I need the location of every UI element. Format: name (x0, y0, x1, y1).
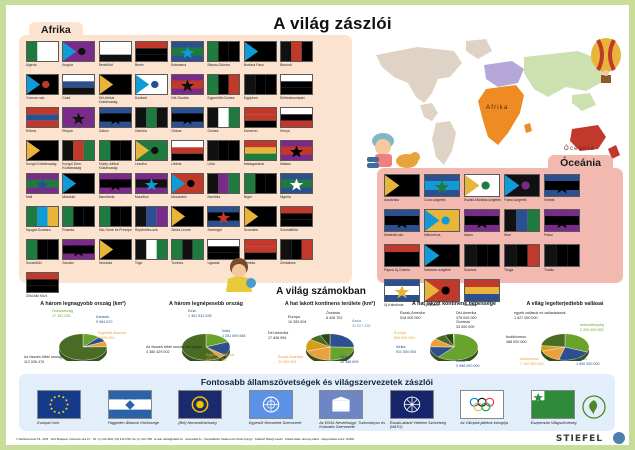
organisation-label: Az ENSz Nevelésügyi, Tudományos és Kultu… (319, 421, 385, 430)
chart-slice-label: Az összes többi ország112 026 470 (24, 355, 62, 364)
flag-cell[interactable]: Niue (503, 209, 543, 242)
chart-slice-name: Oroszország (52, 309, 73, 313)
flag-chad (62, 74, 95, 95)
chart-slice-value: 4 380 429 002 (146, 350, 202, 355)
flag-new-caledonia (384, 279, 420, 302)
flag-label: Kongói Köztársaság (26, 162, 60, 171)
flag-fiji (504, 174, 540, 197)
chart-slice-value: 518 000 000 (400, 316, 425, 321)
flag-cell[interactable]: Salamon-szigetek (423, 244, 463, 277)
flag-nauru (464, 209, 500, 232)
flag-cell[interactable]: Szváziföld (25, 239, 61, 270)
chart-slice-value: 3 998 000 000 (456, 364, 480, 369)
flag-mauritius (135, 173, 168, 194)
flag-burundi (280, 41, 313, 62)
flag-cell[interactable]: Benin (134, 41, 170, 72)
flag-cell[interactable]: São Tomé és Príncipe (98, 206, 134, 237)
chart-slice-label: buddhizmus488 000 000 (506, 335, 527, 344)
flag-label: Cook-szigetek (424, 198, 462, 207)
flag-cell[interactable]: Marshall-szk. (383, 209, 423, 242)
flag-label: Mali (26, 195, 60, 204)
flag-cell[interactable]: Togo (134, 239, 170, 270)
flag-cell[interactable]: Comore-szk. (25, 74, 61, 105)
flag-cell[interactable]: Burundi (279, 41, 315, 72)
chart-slice-name: Az összes többi ország lakossága (146, 345, 202, 349)
numbers-section-title: A világ számokban (261, 286, 381, 297)
poster-frame: A világ zászlói Afrika AlgériaAngolaBeni… (0, 0, 635, 450)
flag-cell[interactable]: Tuvalu (543, 244, 583, 277)
pie-chart-3: A hat lakott kontinens területe (km²) Áz… (268, 301, 392, 371)
flag-cell[interactable]: Namíbia (206, 173, 242, 204)
chart-slice-value: 2 200 000 000 (580, 328, 604, 333)
flag-vanuatu (464, 279, 500, 302)
flag-cell[interactable]: Szomália (243, 206, 279, 237)
flag-cell[interactable]: Kamerun (243, 107, 279, 138)
flag-marshall-islands (384, 209, 420, 232)
flag-cell[interactable]: Nyugat-Szahara (25, 206, 61, 237)
flag-label: Fidzsi-szigetek (504, 198, 542, 207)
flag-burkina-faso (244, 41, 277, 62)
chart-canvas: Oroszország17 101 230Kanada9 984 670Egye… (24, 309, 142, 371)
chart-slice-value: 1 100 000 000 (520, 362, 544, 367)
chart-slice-value: 17 846 954 (268, 336, 288, 341)
chart-title: A három legnépesebb ország (146, 301, 266, 307)
chart-slice-label: Egyesült Államok9 826 630 (98, 331, 126, 340)
flag-cell[interactable]: Niger (243, 173, 279, 204)
flag-label: Lesotho (135, 162, 169, 171)
flag-tuvalu (544, 244, 580, 267)
chart-slice-value: 8 428 702 (326, 316, 342, 321)
flag-label: Libéria (171, 162, 205, 171)
flag-label: Szváziföld (26, 261, 60, 270)
flag-label: Ausztrália (384, 198, 422, 207)
chart-slice-name: India (222, 329, 230, 333)
flag-liberia (171, 140, 204, 161)
flag-tonga (504, 244, 540, 267)
organisations-row: Európai UnióFüggetlen Államok Közössége(… (19, 387, 615, 430)
flag-label: Dzsibuti (135, 96, 169, 105)
flag-cell[interactable]: Kenya (279, 107, 315, 138)
flag-kenya (280, 107, 313, 128)
flag-cell[interactable]: Gabon (98, 107, 134, 138)
flag-cell[interactable]: Fidzsi-szigetek (503, 174, 543, 207)
flag-cell[interactable]: Tunézia (170, 239, 206, 270)
chart-slice-name: Az összes többi ország (24, 355, 62, 359)
continent-panel-africa: Afrika AlgériaAngolaBeninföldBeninBotswa… (19, 35, 352, 283)
flag-label: Tanzánia (99, 261, 133, 270)
flag-cell[interactable]: Zöld-foki Közt. (25, 272, 61, 303)
flag-cell[interactable]: Beninföld (98, 41, 134, 72)
flag-australia (384, 174, 420, 197)
flag-label: Nyugat-Szahara (26, 228, 60, 237)
flag-new-zealand (424, 279, 460, 302)
flag-swaziland (26, 239, 59, 260)
flag-cell[interactable]: Tonga (503, 244, 543, 277)
flag-label: Szudán (62, 261, 96, 270)
pie-chart-1: A három legnagyobb ország (km²) Oroszors… (24, 301, 142, 371)
chart-slice-name: Kanada (96, 315, 109, 319)
organisations-title: Fontosabb államszövetségek és világszerv… (19, 374, 615, 387)
flag-central-african-republic (99, 140, 132, 161)
flag-cell[interactable]: Mauritánia (98, 173, 134, 204)
flag-cell[interactable]: Ausztrália (383, 174, 423, 207)
chart-slice-name: Európa (394, 331, 406, 335)
flag-cell[interactable]: Tanzánia (98, 239, 134, 270)
flag-label: Tunézia (171, 261, 205, 270)
flag-label: Szamoa (464, 268, 502, 277)
chart-slice-value: 17 101 230 (52, 314, 73, 319)
flag-cell[interactable]: Malawi (279, 140, 315, 171)
flag-label: Malawi (280, 162, 314, 171)
flag-label: Madagaszkár (244, 162, 278, 171)
flag-cell[interactable]: Algéria (25, 41, 61, 72)
flag-comoros (26, 74, 59, 95)
flag-label: Sierra Leone (171, 228, 205, 237)
flag-ghana (171, 107, 204, 128)
flag-cell[interactable]: Szomáliföld (279, 206, 315, 237)
flag-cell[interactable]: Madagaszkár (243, 140, 279, 171)
flag-label: Mauritánia (99, 195, 133, 204)
chart-slice-value: 33 000 000 (456, 325, 474, 330)
chart-slice-name: iszlám (576, 357, 586, 361)
organisation-label: Eszperantó Világszövetség (531, 421, 597, 426)
organisation-item[interactable]: Egyesült Nemzetek Szervezete (249, 390, 315, 430)
flag-cell[interactable]: Marokkó (61, 173, 97, 204)
flag-cell[interactable]: Angola (61, 41, 97, 72)
pie-chart-5: A világ legelterjedtebb vallásai kereszt… (506, 301, 624, 371)
chart-canvas: kereszténység2 200 000 000iszlám1 600 00… (506, 309, 624, 371)
chart-slice-label: Óceánia33 000 000 (456, 320, 474, 329)
flag-label: Nigéria (280, 195, 314, 204)
flag-label: Kamerun (244, 129, 278, 138)
map-label-africa: Afrika (486, 105, 509, 111)
chart-title: A hat lakott kontinens területe (km²) (268, 301, 392, 307)
flag-label: Bissau-Guinea (207, 63, 241, 72)
flag-label: Burundi (280, 63, 314, 72)
flag-samoa (464, 244, 500, 267)
world-map: Afrika Óceánia (358, 33, 628, 173)
flag-gambia (135, 107, 168, 128)
flag-congo (26, 140, 59, 161)
brand-dot-icon (613, 432, 625, 444)
chart-slice-value: 1 600 000 000 (576, 362, 600, 367)
chart-slice-name: kereszténység (580, 323, 604, 327)
flag-south-sudan (171, 74, 204, 95)
flag-cell[interactable]: Gambia (134, 107, 170, 138)
flag-label: Közép-Afrikai Köztársaság (99, 162, 133, 171)
chart-slice-value: 30 368 609 (340, 360, 358, 365)
flag-cell[interactable]: Seychelles-szk. (134, 206, 170, 237)
chart-slice-name: Dél-Amerika (268, 331, 288, 335)
flag-label: Eritrea (26, 129, 60, 138)
flag-tanzania (99, 239, 132, 260)
flag-cell[interactable]: Ruanda (61, 206, 97, 237)
flag-label: Pápua Új-Guinea (384, 268, 422, 277)
flag-label: Mozambik (171, 195, 205, 204)
chart-slice-label: Afrika911 000 000 (396, 345, 416, 354)
flag-ethiopia (62, 107, 95, 128)
chart-slice-label: iszlám1 600 000 000 (576, 357, 600, 366)
flag-papua-new-guinea (384, 244, 420, 267)
flag-label: Líbia (207, 162, 241, 171)
flag-guinea (207, 107, 240, 128)
flag-cape-verde (26, 272, 59, 293)
chart-slice-name: buddhizmus (506, 335, 526, 339)
flag-djibouti (135, 74, 168, 95)
chart-slice-label: India1 251 695 584 (222, 329, 246, 338)
flag-guinea-bissau (207, 41, 240, 62)
flag-cell[interactable]: Egyenlítői-Guinea (206, 74, 242, 105)
flag-cell[interactable]: Libéria (170, 140, 206, 171)
flag-cell[interactable]: Szudán (61, 239, 97, 270)
flag-cameroon (244, 107, 277, 128)
flag-gabon (99, 107, 132, 128)
flag-nigeria (280, 173, 313, 194)
flag-cell[interactable]: Kongói Köztársaság (25, 140, 61, 171)
organisation-label: (Brit) Nemzetközösség (178, 421, 244, 426)
flag-senegal (207, 206, 240, 227)
flag-cell[interactable]: Pápua Új-Guinea (383, 244, 423, 277)
chart-slice-name: Óceánia (326, 311, 340, 315)
flag-benin (135, 41, 168, 62)
chart-slice-name: Ázsia (456, 359, 465, 363)
flag-cell[interactable]: Mali (25, 173, 61, 204)
flag-cell[interactable]: Lesotho (134, 140, 170, 171)
flag-label: Angola (62, 63, 96, 72)
chart-slice-label: Észak-Amerika24 506 524 (278, 355, 303, 364)
flag-cell[interactable]: Kiribati (543, 174, 583, 207)
flag-cell[interactable]: Szamoa (463, 244, 503, 277)
flag-cell[interactable]: Mozambik (170, 173, 206, 204)
flag-label: Niue (504, 233, 542, 242)
organisation-item[interactable]: Az Olimpiai játékok lobogója (460, 390, 526, 430)
organisation-label: Egyesült Nemzetek Szervezete (249, 421, 315, 426)
flag-label: Burkina Faso (244, 63, 278, 72)
flag-label: Togo (135, 261, 169, 270)
flag-label: Egyenlítői-Guinea (207, 96, 241, 105)
flag-cell[interactable]: Elefántcsontpart (279, 74, 315, 105)
flag-madagascar (244, 140, 277, 161)
flag-label: Namíbia (207, 195, 241, 204)
flag-label: Marokkó (62, 195, 96, 204)
chart-slice-value: 1 251 695 584 (222, 334, 246, 339)
flag-algeria (26, 41, 59, 62)
flag-label: Gambia (135, 129, 169, 138)
pie-chart-4: A hat lakott kontinens népessége Ázsia3 … (394, 301, 514, 371)
flag-label: Szomáliföld (280, 228, 314, 237)
flag-cell[interactable]: Nauru (463, 209, 503, 242)
flag-european-union (37, 390, 81, 419)
flag-niger (244, 173, 277, 194)
flag-unesco (319, 390, 363, 419)
organisation-label: Az Olimpiai játékok lobogója (460, 421, 526, 426)
flag-malawi (280, 140, 313, 161)
flag-seychelles (135, 206, 168, 227)
flag-label: Guinea (207, 129, 241, 138)
chart-slice-label: Európa10 395 504 (288, 315, 306, 324)
organisation-item[interactable]: (Brit) Nemzetközösség (178, 390, 244, 430)
eco-certification-badge-icon (581, 394, 607, 420)
organisation-label: Északi-atlanti Védelmi Szövetség (NATO) (390, 421, 456, 430)
flag-ivory-coast (280, 74, 313, 95)
chart-slice-value: 112 026 470 (24, 360, 62, 365)
chart-slice-label: Óceánia8 428 702 (326, 311, 342, 320)
flag-dr-congo (62, 140, 95, 161)
flag-label: Mauritius (135, 195, 169, 204)
flag-label: Dél-Afrikai Köztársaság (99, 96, 133, 105)
flag-cell[interactable]: Északi-Mariana-szigetek (463, 174, 503, 207)
flag-cell[interactable]: Líbia (206, 140, 242, 171)
chart-slice-label: Európa690 000 000 (394, 331, 415, 340)
flag-cell[interactable]: Mauritius (134, 173, 170, 204)
flag-egypt (244, 74, 277, 95)
organisation-item[interactable]: Európai Unió (37, 390, 103, 430)
chart-slice-name: Kína (188, 309, 196, 313)
flag-label: Szomália (244, 228, 278, 237)
flag-sierra-leone (171, 206, 204, 227)
flag-rwanda (62, 206, 95, 227)
chart-slice-value: 690 000 000 (394, 336, 415, 341)
flag-cook-islands (424, 174, 460, 197)
flag-label: Egyiptom (244, 96, 278, 105)
flag-label: Niger (244, 195, 278, 204)
chart-slice-value: 911 000 000 (396, 350, 416, 355)
flag-mauritania (99, 173, 132, 194)
flag-cell[interactable]: Mikronézia (423, 209, 463, 242)
chart-slice-label: Ázsia3 998 000 000 (456, 359, 480, 368)
chart-slice-label: Észak-Amerika518 000 000 (400, 311, 425, 320)
flag-sudan (62, 239, 95, 260)
chart-slice-name: Dél-Amerika (456, 311, 476, 315)
chart-slice-name: Egyesült Államok (98, 331, 126, 335)
map-label-oceania: Óceánia (564, 146, 595, 152)
chart-slice-label: Dél-Amerika376 000 000 (456, 311, 477, 320)
chart-slice-name: Egyesült Államok (206, 353, 234, 357)
flag-label: Kongói Dem. Köztársaság (62, 162, 96, 171)
flag-label: Elefántcsontpart (280, 96, 314, 105)
flag-cell[interactable]: Cook-szigetek (423, 174, 463, 207)
flag-somalia (244, 206, 277, 227)
flag-commonwealth (178, 390, 222, 419)
chart-slice-name: Ázsia (352, 319, 361, 323)
organisations-panel: Fontosabb államszövetségek és világszerv… (19, 374, 615, 431)
flag-cell[interactable]: Szenegál (206, 206, 242, 237)
flag-western-sahara (26, 206, 59, 227)
child-globe-illustration-icon (218, 257, 260, 293)
chart-slice-value: 10 395 504 (288, 320, 306, 325)
chart-slice-name: Európa (288, 315, 300, 319)
flag-cell[interactable]: Palau (543, 209, 583, 242)
flag-cell[interactable]: Ghána (170, 107, 206, 138)
chart-title: A hat lakott kontinens népessége (394, 301, 514, 307)
flag-cell[interactable]: Dél-Szudán (170, 74, 206, 105)
flag-morocco (62, 173, 95, 194)
flag-label: Palau (544, 233, 582, 242)
chart-slice-label: Ázsia31 027 230 (352, 319, 370, 328)
flag-cell[interactable]: Csád (61, 74, 97, 105)
flag-northern-mariana (464, 174, 500, 197)
flag-label: Salamon-szigetek (424, 268, 462, 277)
flag-mali (26, 173, 59, 194)
flag-cell[interactable]: Dél-Afrikai Köztársaság (98, 74, 134, 105)
flag-cell[interactable]: Bissau-Guinea (206, 41, 242, 72)
flag-cell[interactable]: Egyiptom (243, 74, 279, 105)
chart-slice-value: 9 984 670 (96, 320, 112, 325)
poster-sheet: A világ zászlói Afrika AlgériaAngolaBeni… (6, 5, 629, 445)
flag-label: Seychelles-szk. (135, 228, 169, 237)
flag-label: Kiribati (544, 198, 582, 207)
flag-tunisia (171, 239, 204, 260)
flag-label: Etiópia (62, 129, 96, 138)
chart-title: A három legnagyobb ország (km²) (24, 301, 142, 307)
flag-united-nations (249, 390, 293, 419)
flag-label: Tuvalu (544, 268, 582, 277)
organisation-label: Független Államok Közössége (108, 421, 174, 426)
flag-benin-land (99, 41, 132, 62)
chart-slice-label: Dél-Amerika17 846 954 (268, 331, 288, 340)
flag-label: Beninföld (99, 63, 133, 72)
chart-slice-label: Kína1 361 512 535 (188, 309, 212, 318)
flag-angola (62, 41, 95, 62)
child-illustration-icon (363, 127, 421, 171)
flag-lesotho (135, 140, 168, 161)
flag-cell[interactable]: Közép-Afrikai Köztársaság (98, 140, 134, 171)
flag-cell[interactable]: Nigéria (279, 173, 315, 204)
flag-cell[interactable]: Kongói Dem. Köztársaság (61, 140, 97, 171)
flag-niue (504, 209, 540, 232)
flag-cell[interactable]: Sierra Leone (170, 206, 206, 237)
flag-olympic (460, 390, 504, 419)
flag-palau (544, 209, 580, 232)
flag-label: Algéria (26, 63, 60, 72)
pie-chart-2: A három legnépesebb ország Kína1 361 512… (146, 301, 266, 371)
flag-label: Marshall-szk. (384, 233, 422, 242)
organisation-label: Európai Unió (37, 421, 103, 426)
chart-slice-label: Oroszország17 101 230 (52, 309, 73, 318)
chart-slice-value: 1 361 512 535 (188, 314, 212, 319)
flag-cell[interactable]: Dzsibuti (134, 74, 170, 105)
flag-label: Ghána (171, 129, 205, 138)
organisation-item[interactable]: Független Államok Közössége (108, 390, 174, 430)
organisation-item[interactable]: Északi-atlanti Védelmi Szövetség (NATO) (390, 390, 456, 430)
flag-label: Mikronézia (424, 233, 462, 242)
continent-tab-oceania: Óceánia (548, 155, 613, 170)
flag-cell[interactable]: Botswana (170, 41, 206, 72)
flag-cell[interactable]: Etiópia (61, 107, 97, 138)
organisation-item[interactable]: Az ENSz Nevelésügyi, Tudományos és Kultu… (319, 390, 385, 430)
chart-slice-label: Kanada9 984 670 (96, 315, 112, 324)
chart-canvas: Ázsia31 027 230Afrika30 368 609Észak-Ame… (268, 309, 392, 371)
chart-slice-value: 488 000 000 (506, 340, 527, 345)
flag-zimbabwe (280, 239, 313, 260)
flag-label: Szenegál (207, 228, 241, 237)
flag-grid-africa: AlgériaAngolaBeninföldBeninBotswanaBissa… (19, 35, 352, 309)
flag-label: Gabon (99, 129, 133, 138)
chart-slice-label: hinduizmus1 100 000 000 (520, 357, 544, 366)
flag-cell[interactable]: Guinea (206, 107, 242, 138)
flag-label: Dél-Szudán (171, 96, 205, 105)
continent-panel-oceania: Óceánia AusztráliaCook-szigetekÉszaki-Ma… (377, 168, 623, 283)
flag-togo (135, 239, 168, 260)
flag-botswana (171, 41, 204, 62)
flag-equatorial-guinea (207, 74, 240, 95)
chart-slice-value: 31 027 230 (352, 324, 370, 329)
flag-south-africa (99, 74, 132, 95)
flag-cell[interactable]: Eritrea (25, 107, 61, 138)
flag-cell[interactable]: Burkina Faso (243, 41, 279, 72)
chart-slice-label: egyéb vallások és vallástalanok1 627 000… (514, 311, 566, 320)
flag-cell[interactable]: Zimbabwe (279, 239, 315, 270)
